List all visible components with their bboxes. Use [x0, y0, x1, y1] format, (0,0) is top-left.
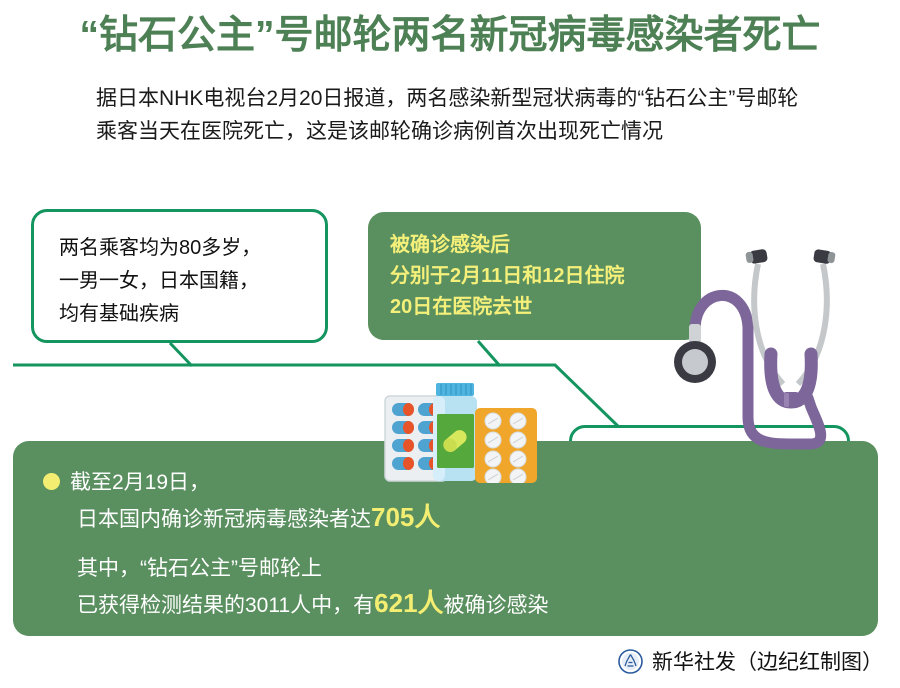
- stats-line-3: 其中，“钻石公主”号邮轮上: [43, 551, 858, 586]
- callout-statistics-text: 截至2月19日， 日本国内确诊新冠病毒感染者达705人 其中，“钻石公主”号邮轮…: [43, 465, 858, 623]
- callout-passengers: 两名乘客均为80多岁， 一男一女，日本国籍， 均有基础疾病: [31, 209, 328, 343]
- stats-line-4: 已获得检测结果的3011人中，有621人被确诊感染: [43, 586, 858, 623]
- stats-line-2: 日本国内确诊新冠病毒感染者达705人: [43, 500, 858, 537]
- stats-confirmed-ship-total: 621人: [374, 588, 443, 618]
- footer-credit-text: 新华社发（边纪红制图）: [652, 646, 883, 676]
- medicine-pills-icon: [383, 378, 559, 483]
- stats-line-4-suffix: 被确诊感染: [444, 594, 549, 617]
- callout-passengers-line-1: 两名乘客均为80多岁，: [59, 232, 313, 265]
- stats-spacer: [43, 537, 858, 551]
- bullet-dot-icon: [43, 473, 60, 490]
- footer-credit: 新华社发（边纪红制图）: [618, 646, 883, 676]
- stats-line-2-prefix: 日本国内确诊新冠病毒感染者达: [77, 508, 371, 531]
- stats-line-3-text: 其中，“钻石公主”号邮轮上: [77, 557, 322, 580]
- xinhua-logo-icon: [618, 649, 643, 674]
- infographic-canvas: “钻石公主”号邮轮两名新冠病毒感染者死亡 据日本NHK电视台2月20日报道，两名…: [0, 0, 900, 688]
- page-subtitle: 据日本NHK电视台2月20日报道，两名感染新型冠状病毒的“钻石公主”号邮轮乘客当…: [96, 82, 808, 148]
- stats-line-1-text: 截至2月19日，: [70, 471, 210, 494]
- page-title: “钻石公主”号邮轮两名新冠病毒感染者死亡: [0, 8, 900, 64]
- stats-line-4-prefix: 已获得检测结果的3011人中，有: [77, 594, 374, 617]
- callout-passengers-line-2: 一男一女，日本国籍，: [59, 265, 313, 298]
- stats-confirmed-japan-total: 705人: [371, 502, 440, 532]
- callout-passengers-text: 两名乘客均为80多岁， 一男一女，日本国籍， 均有基础疾病: [59, 232, 313, 331]
- callout-passengers-line-3: 均有基础疾病: [59, 298, 313, 331]
- stethoscope-icon: [645, 232, 890, 462]
